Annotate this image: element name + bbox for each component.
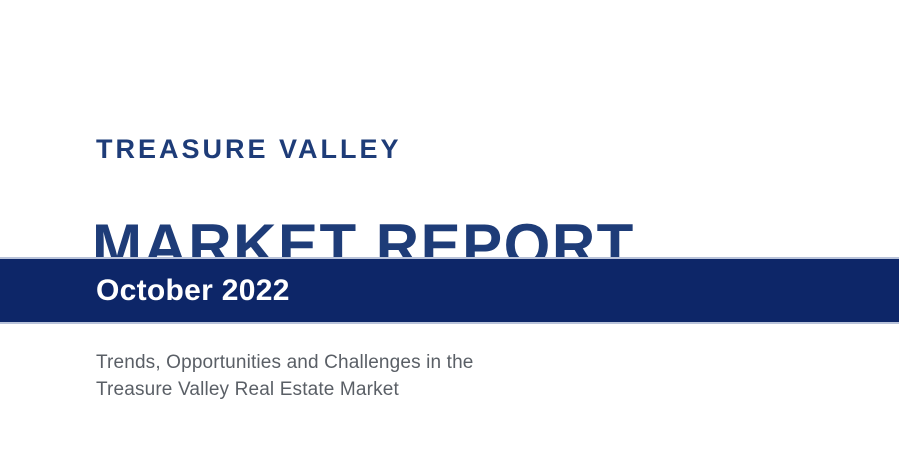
page-subtitle: Trends, Opportunities and Challenges in … bbox=[96, 350, 474, 404]
page-subtitle-line-1: Trends, Opportunities and Challenges in … bbox=[96, 350, 474, 377]
report-date-label: October 2022 bbox=[96, 274, 290, 308]
page-subtitle-line-2: Treasure Valley Real Estate Market bbox=[96, 377, 474, 404]
page-kicker: TREASURE VALLEY bbox=[96, 136, 402, 163]
date-band: October 2022 bbox=[0, 257, 899, 324]
report-cover-slide: TREASURE VALLEY MARKET REPORT October 20… bbox=[0, 0, 899, 462]
